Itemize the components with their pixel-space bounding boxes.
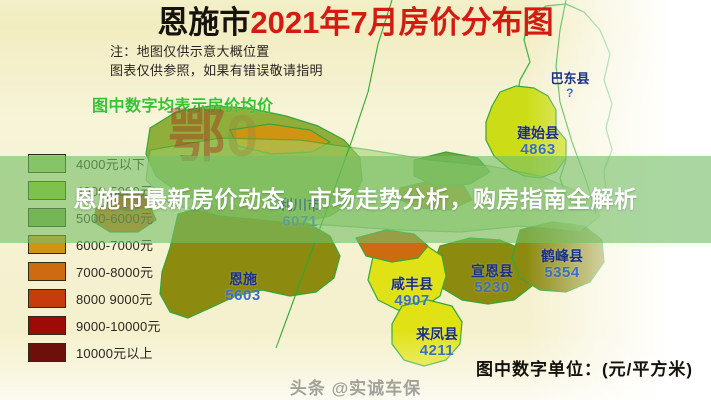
page-title: 恩施市2021年7月房价分布图 bbox=[0, 4, 711, 42]
legend-label: 7000-8000元 bbox=[76, 262, 153, 281]
note-line-2: 图表仅供参照，如果有错误敬请指明 bbox=[110, 61, 323, 80]
map-label-name: 来凤县 bbox=[397, 327, 477, 343]
headline-text: 恩施市最新房价动态，市场走势分析，购房指南全解析 bbox=[36, 183, 676, 216]
legend-label: 8000 9000元 bbox=[76, 289, 152, 308]
note-line-1: 注：地图仅供示意大概位置 bbox=[110, 42, 270, 61]
legend-label: 10000元以上 bbox=[76, 343, 153, 362]
map-label-8: 来凤县4211 bbox=[397, 327, 477, 359]
page-title-prefix: 恩施市 bbox=[157, 5, 250, 40]
watermark-bottom: 头条 @实诚车保 bbox=[0, 374, 711, 399]
map-label-name: 巴东县 bbox=[530, 72, 610, 87]
map-label-name: 鹤峰县 bbox=[522, 249, 602, 265]
legend-row: 9000-10000元 bbox=[28, 312, 161, 339]
map-label-7: 鹤峰县5354 bbox=[522, 249, 602, 281]
map-label-name: 宣恩县 bbox=[452, 264, 532, 280]
page-title-highlight: 2021年7月房价分布图 bbox=[250, 5, 553, 40]
legend-row: 8000 9000元 bbox=[28, 285, 161, 312]
legend-label: 9000-10000元 bbox=[76, 316, 161, 335]
headline-banner: 恩施市最新房价动态，市场走势分析，购房指南全解析 bbox=[0, 156, 711, 243]
screenshot-root: 恩施市2021年7月房价分布图 注：地图仅供示意大概位置 图表仅供参照，如果有错… bbox=[0, 0, 711, 400]
map-label-name: 咸丰县 bbox=[372, 277, 452, 293]
legend-row: 10000元以上 bbox=[28, 339, 161, 366]
map-label-value: 5603 bbox=[203, 288, 283, 305]
legend-row: 7000-8000元 bbox=[28, 258, 161, 285]
map-label-1: 巴东县? bbox=[530, 72, 610, 100]
map-label-2: 建始县4863 bbox=[498, 126, 578, 158]
legend-swatch bbox=[28, 316, 66, 335]
map-label-name: 恩施 bbox=[203, 272, 283, 288]
map-label-5: 咸丰县4907 bbox=[372, 277, 452, 309]
legend-swatch bbox=[28, 343, 66, 362]
map-label-6: 宣恩县5230 bbox=[452, 264, 532, 296]
map-label-value: ? bbox=[530, 87, 610, 100]
map-label-value: 5354 bbox=[522, 265, 602, 282]
map-label-name: 建始县 bbox=[498, 126, 578, 142]
map-label-value: 5230 bbox=[452, 280, 532, 297]
legend-swatch bbox=[28, 262, 66, 281]
legend-swatch bbox=[28, 289, 66, 308]
map-label-value: 4211 bbox=[397, 343, 477, 360]
map-label-value: 4907 bbox=[372, 293, 452, 310]
map-label-4: 恩施5603 bbox=[203, 272, 283, 304]
